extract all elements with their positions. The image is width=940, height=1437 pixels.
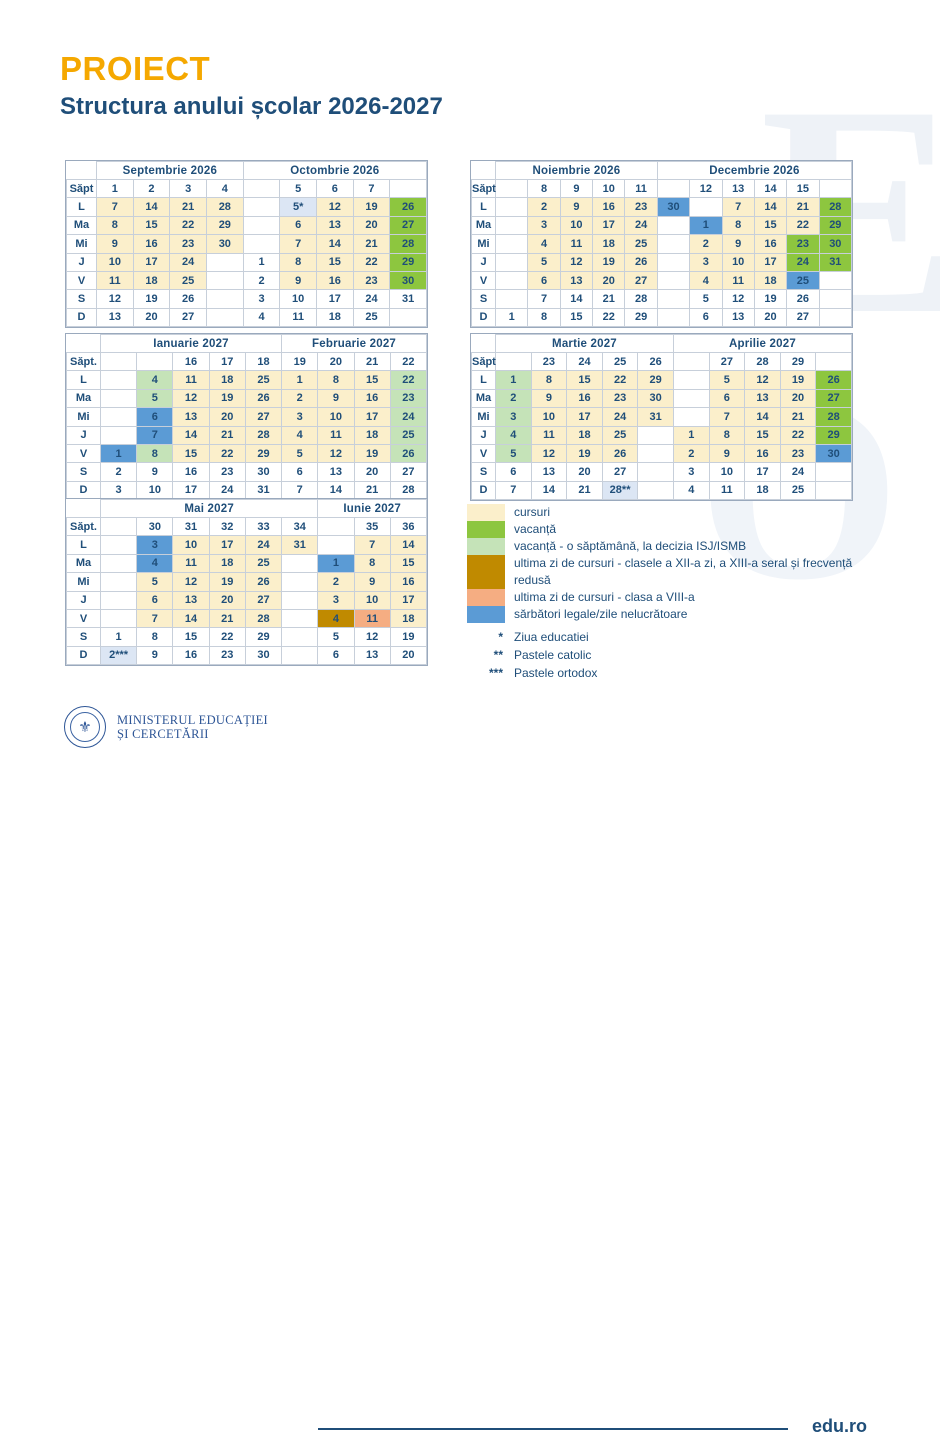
day-name-s: S (67, 290, 97, 308)
calendar-day-cell: 6 (318, 646, 354, 664)
month-title-left: Martie 2027 (496, 335, 674, 353)
calendar-day-cell: 6 (709, 389, 745, 407)
month-header-row: Noiembrie 2026Decembrie 2026 (472, 162, 852, 180)
day-name-ma: Ma (67, 554, 101, 572)
week-column-label: Săpt. (67, 518, 101, 536)
day-name-ma: Ma (67, 216, 97, 234)
calendar-day-cell: 25 (353, 308, 390, 326)
legend-row-cursuri: cursuri (467, 504, 867, 521)
day-name-mi: Mi (472, 408, 496, 426)
calendar-day-row: V61320274111825 (472, 271, 852, 289)
calendar-day-row: Ma81522296132027 (67, 216, 427, 234)
calendar-day-cell: 2*** (101, 646, 137, 664)
calendar-day-cell: 7 (137, 609, 173, 627)
calendar-day-cell: 24 (390, 408, 426, 426)
calendar-day-cell: 12 (316, 198, 353, 216)
day-name-j: J (472, 426, 496, 444)
week-number: 25 (602, 353, 638, 371)
calendar-day-cell: 11 (173, 371, 209, 389)
calendar-day-cell: 11 (354, 609, 390, 627)
calendar-day-row: J613202731017 (67, 591, 427, 609)
calendar-day-cell: 18 (754, 271, 786, 289)
calendar-day-cell: 30 (390, 271, 427, 289)
calendar-day-cell: 18 (354, 426, 390, 444)
calendar-day-cell: 20 (593, 271, 625, 289)
calendar-day-cell: 6 (137, 591, 173, 609)
calendar-day-cell: 12 (173, 389, 209, 407)
day-name-mi: Mi (67, 573, 101, 591)
calendar-day-cell: 22 (780, 426, 816, 444)
calendar-day-row: Ma41118251815 (67, 554, 427, 572)
calendar-day-cell: 23 (390, 389, 426, 407)
calendar-empty-cell (101, 554, 137, 572)
legend-label-ultima-zi-cursuri-viii: ultima zi de cursuri - clasa a VIII-a (514, 589, 695, 606)
calendar-day-cell: 15 (745, 426, 781, 444)
calendar-day-cell: 11 (280, 308, 317, 326)
page-footer: ⚜ MINISTERUL EDUCAȚIEI ȘI CERCETĂRII edu… (0, 698, 940, 768)
calendar-day-cell: 24 (209, 481, 245, 499)
day-name-ma: Ma (67, 389, 101, 407)
calendar-day-cell: 15 (133, 216, 170, 234)
week-number: 14 (754, 180, 786, 198)
calendar-empty-cell (206, 253, 243, 271)
week-column-label: Săpt (472, 353, 496, 371)
week-number: 35 (354, 518, 390, 536)
calendar-day-cell: 26 (816, 371, 852, 389)
calendar-day-cell: 5 (318, 628, 354, 646)
calendar-day-cell: 19 (390, 628, 426, 646)
calendar-day-cell: 12 (560, 253, 592, 271)
edu-ro-link[interactable]: edu.ro (812, 1416, 867, 1437)
emblem-inner-glyph: ⚜ (70, 712, 100, 742)
calendar-day-cell: 8 (97, 216, 134, 234)
calendar-day-cell: 8 (137, 628, 173, 646)
day-name-d: D (472, 481, 496, 499)
calendar-day-cell: 25 (390, 426, 426, 444)
calendar-day-cell: 13 (97, 308, 134, 326)
calendar-day-cell: 13 (318, 463, 354, 481)
calendar-day-cell: 17 (173, 481, 209, 499)
calendar-day-row: S1815222951219 (67, 628, 427, 646)
calendar-day-cell: 14 (173, 609, 209, 627)
calendar-day-cell: 14 (531, 481, 567, 499)
calendar-day-cell: 7 (137, 426, 173, 444)
calendar-day-cell: 14 (560, 290, 592, 308)
week-number: 2 (133, 180, 170, 198)
month-title-left: Septembrie 2026 (97, 162, 244, 180)
month-title-right: Decembrie 2026 (657, 162, 851, 180)
calendar-day-cell: 3 (137, 536, 173, 554)
calendar-day-row: V181522295121926 (67, 444, 427, 462)
week-number: 4 (206, 180, 243, 198)
calendar-empty-cell (282, 609, 318, 627)
calendar-day-cell: 25 (245, 554, 281, 572)
calendar-day-cell: 12 (745, 371, 781, 389)
calendar-day-cell: 26 (245, 573, 281, 591)
month-title-right: Aprilie 2027 (673, 335, 851, 353)
calendar-day-row: V714212841118 (67, 609, 427, 627)
day-name-d: D (472, 308, 496, 326)
note-text: Pastele ortodox (514, 666, 597, 680)
calendar-day-cell: 27 (245, 408, 281, 426)
calendar-day-cell: 30 (206, 235, 243, 253)
calendar-day-cell: 20 (209, 591, 245, 609)
calendar-day-cell: 27 (602, 463, 638, 481)
week-number-empty (390, 180, 427, 198)
day-name-s: S (67, 628, 101, 646)
calendar-day-cell: 31 (390, 290, 427, 308)
week-number: 33 (245, 518, 281, 536)
calendar-day-cell: 28 (816, 408, 852, 426)
day-name-d: D (67, 481, 101, 499)
calendar-day-cell: 28 (245, 426, 281, 444)
day-name-s: S (67, 463, 101, 481)
calendar-day-cell: 10 (97, 253, 134, 271)
calendar-empty-cell (657, 308, 689, 326)
calendar-day-cell: 16 (133, 235, 170, 253)
calendar-empty-cell (243, 235, 280, 253)
calendar-day-cell: 27 (816, 389, 852, 407)
calendar-day-cell: 22 (209, 628, 245, 646)
calendar-empty-cell (638, 481, 674, 499)
calendar-day-row: D3101724317142128 (67, 481, 427, 499)
calendar-day-cell: 24 (787, 253, 819, 271)
calendar-day-cell: 18 (745, 481, 781, 499)
calendar-day-cell: 10 (560, 216, 592, 234)
calendar-day-cell: 1 (101, 444, 137, 462)
legend-swatch-vacanta (467, 521, 505, 538)
calendar-day-cell: 2 (318, 573, 354, 591)
calendar-day-cell: 15 (560, 308, 592, 326)
month-header-spacer (472, 162, 496, 180)
calendar-day-cell: 17 (754, 253, 786, 271)
week-number: 5 (280, 180, 317, 198)
calendar-empty-cell (638, 463, 674, 481)
day-name-s: S (472, 290, 496, 308)
legend-row-ultima-zi-cursuri-viii: ultima zi de cursuri - clasa a VIII-a (467, 589, 867, 606)
calendar-day-cell: 4 (690, 271, 722, 289)
calendar-day-cell: 7 (97, 198, 134, 216)
calendar-day-cell: 18 (133, 271, 170, 289)
calendar-day-cell: 7 (496, 481, 532, 499)
calendar-day-cell: 26 (245, 389, 281, 407)
week-number: 30 (137, 518, 173, 536)
calendar-empty-cell (673, 389, 709, 407)
week-number: 34 (282, 518, 318, 536)
legend-label-vacanta: vacanță (514, 521, 556, 538)
week-number: 29 (780, 353, 816, 371)
calendar-day-cell: 1 (690, 216, 722, 234)
calendar-day-cell: 4 (243, 308, 280, 326)
calendar-day-cell: 13 (316, 216, 353, 234)
calendar-day-cell: 8 (318, 371, 354, 389)
week-number-empty (816, 353, 852, 371)
calendar-day-cell: 7 (722, 198, 754, 216)
calendar-day-cell: 24 (170, 253, 207, 271)
ministry-name: MINISTERUL EDUCAȚIEI ȘI CERCETĂRII (117, 713, 268, 741)
calendar-day-cell: 28 (390, 481, 426, 499)
calendar-day-row: D7142128**4111825 (472, 481, 852, 499)
calendar-empty-cell (206, 271, 243, 289)
calendar-day-cell: 20 (780, 389, 816, 407)
week-number: 36 (390, 518, 426, 536)
calendar-day-cell: 9 (97, 235, 134, 253)
calendar-day-cell: 12 (318, 444, 354, 462)
calendar-day-cell: 5 (137, 573, 173, 591)
calendar-day-cell: 6 (280, 216, 317, 234)
calendar-day-cell: 23 (625, 198, 657, 216)
calendar-day-cell: 9 (709, 444, 745, 462)
calendar-day-cell: 30 (819, 235, 851, 253)
calendar-day-cell: 26 (625, 253, 657, 271)
day-name-mi: Mi (67, 235, 97, 253)
calendar-day-row: L310172431714 (67, 536, 427, 554)
calendar-table: Septembrie 2026Octombrie 2026Săpt1234567… (66, 161, 427, 327)
calendar-day-cell: 23 (353, 271, 390, 289)
calendar-day-cell: 9 (560, 198, 592, 216)
calendar-day-cell: 21 (354, 481, 390, 499)
calendar-day-cell: 10 (173, 536, 209, 554)
calendar-day-cell: 19 (593, 253, 625, 271)
month-header-row: Martie 2027Aprilie 2027 (472, 335, 852, 353)
calendar-day-cell: 19 (354, 444, 390, 462)
calendar-day-cell: 3 (690, 253, 722, 271)
calendar-day-cell: 17 (133, 253, 170, 271)
calendar-empty-cell (657, 235, 689, 253)
week-number: 11 (625, 180, 657, 198)
calendar-day-row: Mi51219262916 (67, 573, 427, 591)
calendar-day-cell: 11 (318, 426, 354, 444)
block-mai-iun: Mai 2027Iunie 2027Săpt.30313233343536L31… (65, 498, 428, 666)
calendar-day-row: Mi3101724317142128 (472, 408, 852, 426)
calendar-day-cell: 12 (354, 628, 390, 646)
calendar-empty-cell (496, 198, 528, 216)
page-root: PROIECT Structura anului școlar 2026-202… (0, 0, 940, 788)
legend-notes: *Ziua educatiei**Pastele catolic***Paste… (467, 630, 867, 680)
calendar-empty-cell (638, 444, 674, 462)
calendar-day-cell: 18 (209, 554, 245, 572)
calendar-day-cell: 19 (780, 371, 816, 389)
calendar-day-row: J411182518152229 (472, 426, 852, 444)
calendar-day-cell: 15 (354, 371, 390, 389)
calendar-day-cell: 18 (390, 609, 426, 627)
calendar-day-cell: 17 (390, 591, 426, 609)
calendar-empty-cell (101, 573, 137, 591)
calendar-day-cell: 30 (245, 463, 281, 481)
week-number: 18 (245, 353, 281, 371)
calendar-empty-cell (243, 216, 280, 234)
calendar-empty-cell (206, 308, 243, 326)
calendar-day-cell: 29 (625, 308, 657, 326)
calendar-day-cell: 19 (567, 444, 603, 462)
week-number-empty (673, 353, 709, 371)
calendar-empty-cell (496, 253, 528, 271)
calendar-empty-cell (282, 554, 318, 572)
calendar-day-cell: 5 (496, 444, 532, 462)
week-number-empty (496, 353, 532, 371)
calendar-table: Noiembrie 2026Decembrie 2026Săpt89101112… (471, 161, 852, 327)
calendar-day-cell: 7 (280, 235, 317, 253)
calendar-day-cell: 6 (282, 463, 318, 481)
week-number-empty (819, 180, 851, 198)
week-number: 10 (593, 180, 625, 198)
day-name-j: J (67, 253, 97, 271)
day-name-v: V (472, 271, 496, 289)
calendar-day-cell: 10 (354, 591, 390, 609)
calendar-day-cell: 8 (137, 444, 173, 462)
calendar-empty-cell (101, 389, 137, 407)
calendar-day-cell: 14 (133, 198, 170, 216)
calendar-day-cell: 4 (282, 426, 318, 444)
calendar-day-cell: 11 (97, 271, 134, 289)
calendar-day-cell: 2 (673, 444, 709, 462)
calendar-day-cell: 5 (282, 444, 318, 462)
calendar-day-cell: 24 (602, 408, 638, 426)
calendar-empty-cell (101, 591, 137, 609)
week-number-row: Săpt.30313233343536 (67, 518, 427, 536)
legend-row-vacanta: vacanță (467, 521, 867, 538)
calendar-day-cell: 1 (318, 554, 354, 572)
calendar-day-cell: 12 (531, 444, 567, 462)
ministry-emblem-icon: ⚜ (64, 706, 106, 748)
calendar-empty-cell (673, 371, 709, 389)
legend-note-2: **Pastele catolic (467, 648, 867, 662)
week-number-row: Săpt89101112131415 (472, 180, 852, 198)
calendar-day-cell: 22 (602, 371, 638, 389)
week-number-empty (243, 180, 280, 198)
calendar-day-cell: 13 (173, 408, 209, 426)
calendar-day-cell: 7 (528, 290, 560, 308)
calendar-day-cell: 4 (318, 609, 354, 627)
calendar-day-cell: 3 (496, 408, 532, 426)
calendar-day-cell: 19 (209, 573, 245, 591)
calendar-day-row: S71421285121926 (472, 290, 852, 308)
calendar-day-cell: 19 (754, 290, 786, 308)
calendar-table: Mai 2027Iunie 2027Săpt.30313233343536L31… (66, 499, 427, 665)
legend-swatch-cursuri (467, 504, 505, 521)
day-name-v: V (67, 444, 101, 462)
calendar-day-cell: 5 (709, 371, 745, 389)
week-number: 8 (528, 180, 560, 198)
calendar-day-cell: 26 (390, 198, 427, 216)
calendar-day-cell: 24 (353, 290, 390, 308)
day-name-l: L (472, 371, 496, 389)
month-header-spacer (67, 500, 101, 518)
calendar-day-row: S61320273101724 (472, 463, 852, 481)
week-number-empty (657, 180, 689, 198)
calendar-empty-cell (206, 290, 243, 308)
calendar-day-cell: 10 (722, 253, 754, 271)
calendar-day-cell: 20 (353, 216, 390, 234)
calendar-day-cell: 14 (318, 481, 354, 499)
calendar-day-cell: 14 (316, 235, 353, 253)
week-number: 19 (282, 353, 318, 371)
week-number: 22 (390, 353, 426, 371)
calendar-empty-cell (282, 646, 318, 664)
week-number: 15 (787, 180, 819, 198)
block-sep-oct: Septembrie 2026Octombrie 2026Săpt1234567… (65, 160, 428, 328)
calendar-day-cell: 6 (528, 271, 560, 289)
calendar-day-cell: 12 (173, 573, 209, 591)
month-title-left: Noiembrie 2026 (496, 162, 658, 180)
calendar-day-row: Mi61320273101724 (67, 408, 427, 426)
day-name-v: V (67, 271, 97, 289)
calendar-day-cell: 7 (709, 408, 745, 426)
calendar-day-cell: 21 (209, 426, 245, 444)
ministry-line-2: ȘI CERCETĂRII (117, 727, 268, 741)
calendar-day-row: V512192629162330 (472, 444, 852, 462)
calendar-day-cell: 8 (531, 371, 567, 389)
calendar-day-row: Mi91623307142128 (67, 235, 427, 253)
calendar-empty-cell (101, 426, 137, 444)
calendar-day-cell: 21 (593, 290, 625, 308)
calendar-day-row: V11182529162330 (67, 271, 427, 289)
day-name-l: L (472, 198, 496, 216)
calendar-day-cell: 17 (593, 216, 625, 234)
month-header-row: Mai 2027Iunie 2027 (67, 500, 427, 518)
calendar-day-cell: 22 (209, 444, 245, 462)
calendar-day-cell: 29 (819, 216, 851, 234)
legend-label-cursuri: cursuri (514, 504, 550, 521)
calendar-day-row: L4111825181522 (67, 371, 427, 389)
calendar-day-row: D2***916233061320 (67, 646, 427, 664)
calendar-day-row: S121926310172431 (67, 290, 427, 308)
day-name-l: L (67, 198, 97, 216)
week-number-empty (137, 353, 173, 371)
calendar-day-cell: 6 (137, 408, 173, 426)
legend-row-sarbatori-legale: sărbători legale/zile nelucrătoare (467, 606, 867, 623)
page-title: Structura anului școlar 2026-2027 (60, 93, 443, 121)
calendar-day-cell: 11 (722, 271, 754, 289)
calendar-day-cell: 10 (531, 408, 567, 426)
calendar-empty-cell (657, 271, 689, 289)
calendar-day-cell: 11 (709, 481, 745, 499)
calendar-empty-cell (673, 408, 709, 426)
legend-swatch-sarbatori-legale (467, 606, 505, 623)
note-marker: * (467, 630, 505, 644)
calendar-day-cell: 31 (638, 408, 674, 426)
calendar-day-cell: 17 (567, 408, 603, 426)
calendar-day-cell: 18 (316, 308, 353, 326)
calendar-day-cell: 16 (567, 389, 603, 407)
calendar-day-cell: 8 (722, 216, 754, 234)
calendar-day-cell: 21 (209, 609, 245, 627)
calendar-day-cell: 21 (780, 408, 816, 426)
calendar-day-cell: 27 (390, 216, 427, 234)
calendar-day-cell: 5* (280, 198, 317, 216)
calendar-empty-cell (101, 408, 137, 426)
calendar-day-cell: 1 (673, 426, 709, 444)
calendar-day-cell: 22 (390, 371, 426, 389)
calendar-day-cell: 20 (354, 463, 390, 481)
calendar-day-cell: 14 (390, 536, 426, 554)
calendar-day-cell: 25 (780, 481, 816, 499)
calendar-day-cell: 15 (567, 371, 603, 389)
calendar-day-cell: 23 (209, 646, 245, 664)
calendar-day-cell: 6 (496, 463, 532, 481)
calendar-day-row: D181522296132027 (472, 308, 852, 326)
calendar-day-cell: 20 (567, 463, 603, 481)
calendar-day-cell: 17 (354, 408, 390, 426)
note-marker: *** (467, 666, 505, 680)
calendar-day-cell: 1 (496, 308, 528, 326)
calendar-day-cell: 31 (819, 253, 851, 271)
footer-divider (318, 1428, 788, 1430)
calendar-empty-cell (282, 628, 318, 646)
week-number: 27 (709, 353, 745, 371)
calendar-table: Ianuarie 2027Februarie 2027Săpt.16171819… (66, 334, 427, 500)
calendar-day-row: Ma291623306132027 (472, 389, 852, 407)
